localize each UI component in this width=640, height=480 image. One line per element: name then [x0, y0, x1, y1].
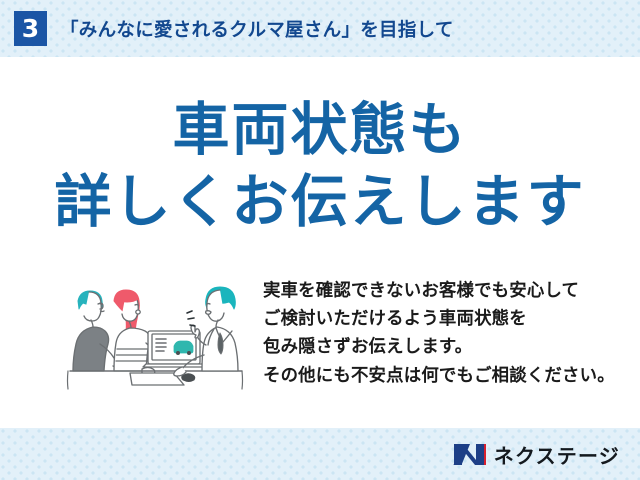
footer-content: ネクステージ	[0, 428, 640, 480]
body-copy-line-3: 包み隠さずお伝えします。	[263, 333, 623, 361]
main-content: 車両状態も 詳しくお伝えします	[0, 57, 640, 428]
header-band: 3 「みんなに愛されるクルマ屋さん」を目指して	[0, 0, 640, 57]
promo-slide: 3 「みんなに愛されるクルマ屋さん」を目指して 車両状態も 詳しくお伝えします	[0, 0, 640, 480]
brand-name: ネクステージ	[494, 440, 620, 469]
body-copy-line-2: ご検討いただけるよう車両状態を	[263, 305, 623, 333]
footer-band: ネクステージ	[0, 428, 640, 480]
consultation-illustration-svg	[54, 273, 259, 393]
body-copy: 実車を確認できないお客様でも安心して ご検討いただけるよう車両状態を 包み隠さず…	[263, 277, 623, 390]
headline: 車両状態も 詳しくお伝えします	[0, 97, 640, 235]
step-number-badge: 3	[14, 11, 47, 46]
nextage-n-logo-icon	[453, 442, 487, 467]
headline-line-2: 詳しくお伝えします	[0, 169, 640, 235]
consultation-illustration	[54, 273, 259, 393]
header-title: 「みんなに愛されるクルマ屋さん」を目指して	[60, 16, 454, 42]
body-copy-line-4: その他にも不安点は何でもご相談ください。	[263, 362, 623, 390]
header-content: 3 「みんなに愛されるクルマ屋さん」を目指して	[0, 0, 640, 57]
body-copy-line-1: 実車を確認できないお客様でも安心して	[263, 277, 623, 305]
brand-lockup: ネクステージ	[453, 440, 620, 469]
headline-line-1: 車両状態も	[0, 97, 640, 163]
lower-section: 実車を確認できないお客様でも安心して ご検討いただけるよう車両状態を 包み隠さず…	[0, 273, 640, 413]
